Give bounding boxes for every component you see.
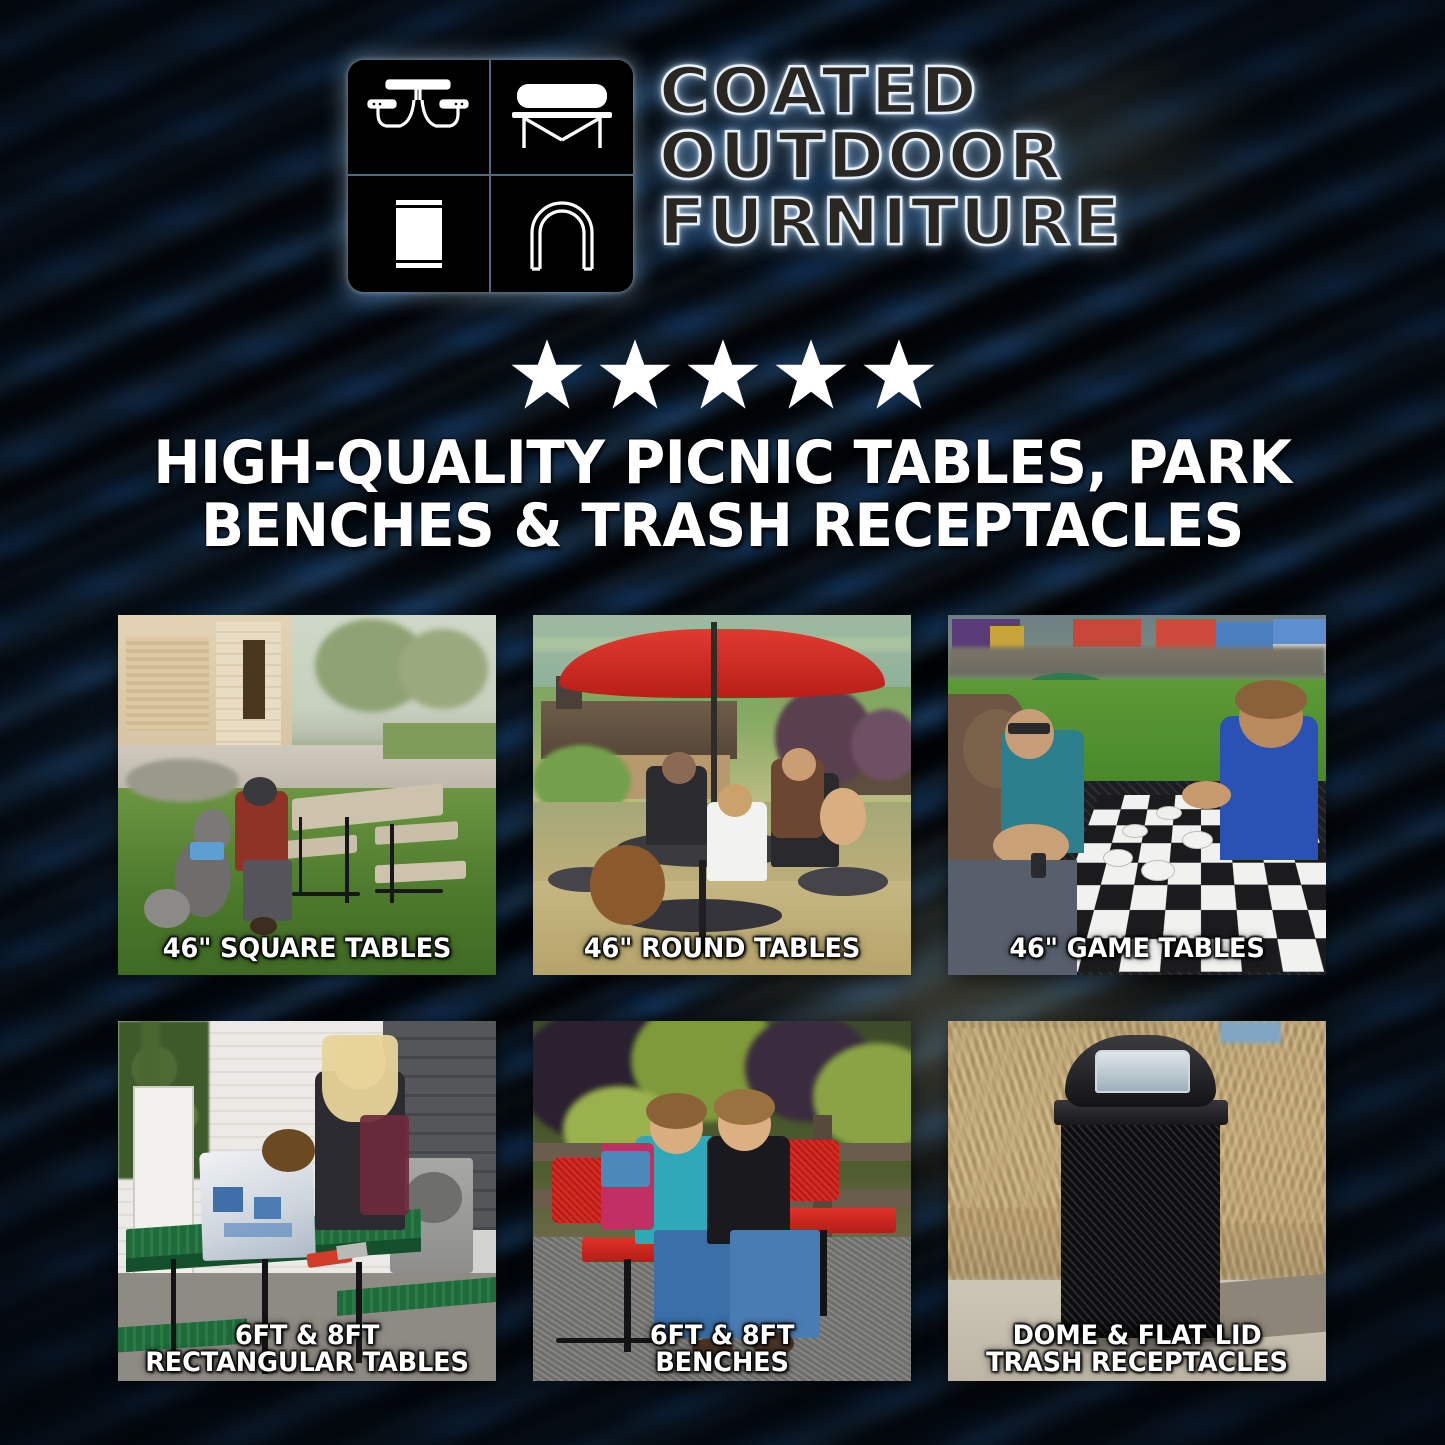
- product-tile-benches[interactable]: 6FT & 8FT BENCHES: [533, 1021, 911, 1381]
- bike-rack-icon: [491, 176, 634, 292]
- product-photo-round-tables: [533, 615, 911, 975]
- bench-table-icon: [491, 60, 634, 176]
- promotional-banner: COATED OUTDOOR FURNITURE HIGH-QUALITY PI…: [0, 0, 1445, 1445]
- star-icon: [598, 338, 672, 410]
- star-icon: [510, 338, 584, 410]
- page-title: HIGH-QUALITY PICNIC TABLES, PARK BENCHES…: [43, 432, 1401, 558]
- product-photo-game-tables: [948, 615, 1326, 975]
- product-tile-rectangular-tables[interactable]: 6FT & 8FT RECTANGULAR TABLES: [118, 1021, 496, 1381]
- logo-line-2: OUTDOOR: [659, 127, 1064, 188]
- product-tile-round-tables[interactable]: 46" ROUND TABLES: [533, 615, 911, 975]
- product-tile-game-tables[interactable]: 46" GAME TABLES: [948, 615, 1326, 975]
- product-photo-square-tables: [118, 615, 496, 975]
- trash-receptacle-icon: [348, 176, 491, 292]
- headline-line-1: HIGH-QUALITY PICNIC TABLES, PARK: [109, 432, 1336, 495]
- product-grid: 46" SQUARE TABLES: [118, 615, 1326, 1381]
- brand-logo: COATED OUTDOOR FURNITURE: [0, 60, 1445, 292]
- logo-wordmark: COATED OUTDOOR FURNITURE: [659, 60, 1097, 258]
- product-tile-trash-receptacles[interactable]: DOME & FLAT LID TRASH RECEPTACLES: [948, 1021, 1326, 1381]
- headline-line-2: BENCHES & TRASH RECEPTACLES: [109, 495, 1336, 558]
- star-icon: [862, 338, 936, 410]
- logo-line-1: COATED: [659, 62, 980, 123]
- product-photo-trash-receptacles: [948, 1021, 1326, 1381]
- star-icon: [774, 338, 848, 410]
- logo-line-3: FURNITURE: [659, 193, 1123, 254]
- star-icon: [686, 338, 760, 410]
- logo-icon-grid: [348, 60, 633, 292]
- product-photo-benches: [533, 1021, 911, 1381]
- picnic-table-icon: [348, 60, 491, 176]
- star-rating: [0, 338, 1445, 410]
- product-photo-rectangular-tables: [118, 1021, 496, 1381]
- product-tile-square-tables[interactable]: 46" SQUARE TABLES: [118, 615, 496, 975]
